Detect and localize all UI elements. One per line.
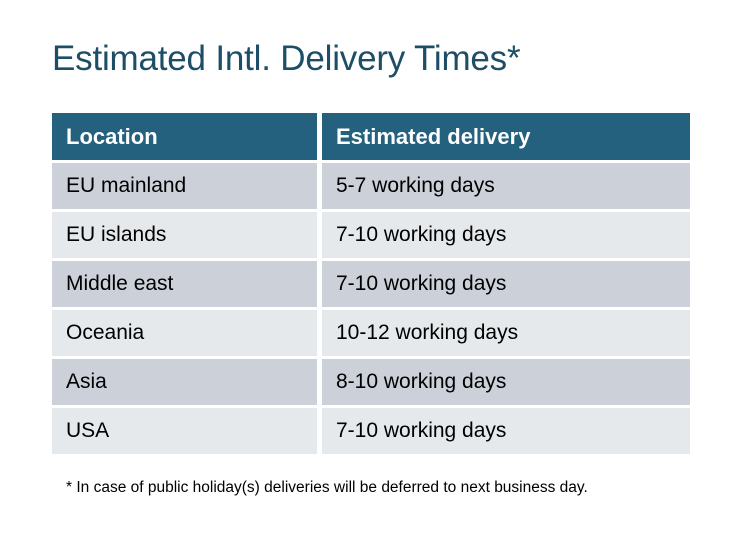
cell-location: Asia [52, 359, 317, 405]
table-row: USA 7-10 working days [52, 408, 690, 454]
cell-location: EU islands [52, 212, 317, 258]
footnote: * In case of public holiday(s) deliverie… [66, 478, 588, 498]
cell-delivery: 10-12 working days [322, 310, 690, 356]
cell-location: EU mainland [52, 163, 317, 209]
cell-delivery: 7-10 working days [322, 408, 690, 454]
table-row: Asia 8-10 working days [52, 359, 690, 405]
table-row: EU islands 7-10 working days [52, 212, 690, 258]
page-title: Estimated Intl. Delivery Times* [52, 38, 520, 80]
column-header-estimated-delivery: Estimated delivery [322, 113, 690, 160]
table-header-row: Location Estimated delivery [52, 113, 690, 160]
cell-delivery: 7-10 working days [322, 212, 690, 258]
delivery-times-page: Estimated Intl. Delivery Times* Location… [0, 0, 745, 536]
cell-delivery: 5-7 working days [322, 163, 690, 209]
cell-delivery: 8-10 working days [322, 359, 690, 405]
cell-location: USA [52, 408, 317, 454]
cell-location: Middle east [52, 261, 317, 307]
table-row: Middle east 7-10 working days [52, 261, 690, 307]
column-header-location: Location [52, 113, 317, 160]
cell-location: Oceania [52, 310, 317, 356]
cell-delivery: 7-10 working days [322, 261, 690, 307]
table-row: EU mainland 5-7 working days [52, 163, 690, 209]
table-row: Oceania 10-12 working days [52, 310, 690, 356]
delivery-times-table: Location Estimated delivery EU mainland … [52, 113, 690, 454]
